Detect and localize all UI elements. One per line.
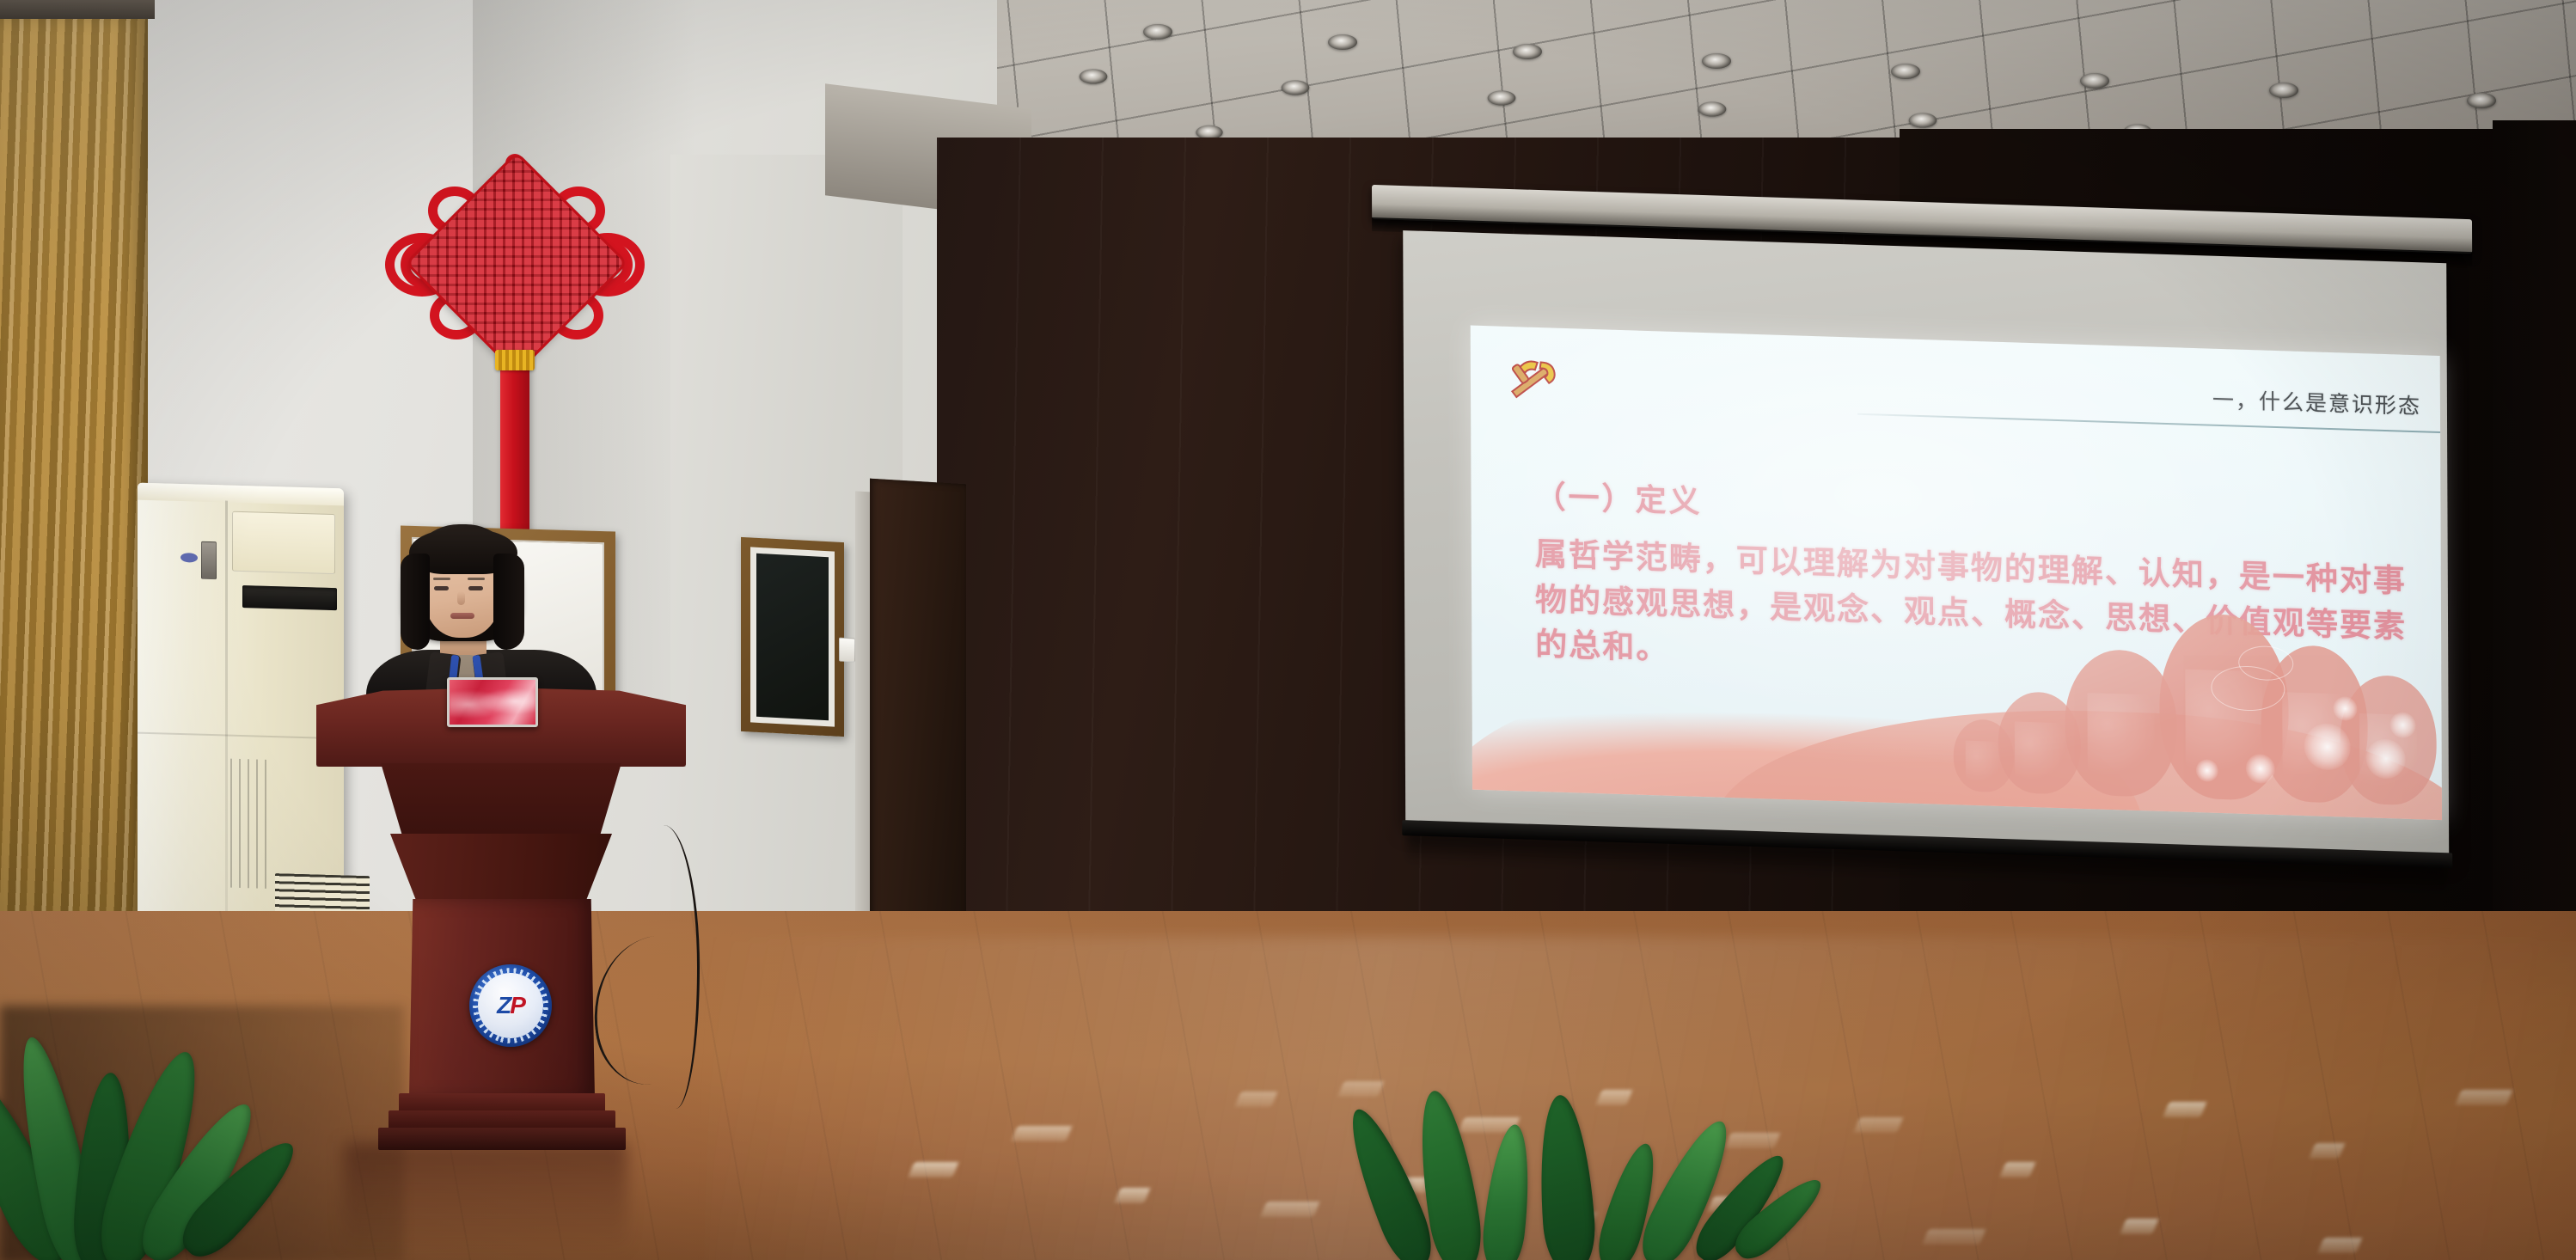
floor-light-reflection xyxy=(2120,1219,2158,1234)
speaker-brow-right xyxy=(468,578,485,580)
podium-column-neck xyxy=(390,834,612,902)
ceiling-downlight-icon xyxy=(1702,53,1731,69)
institution-emblem: ZP xyxy=(469,964,552,1047)
ceiling-downlight-icon xyxy=(1513,44,1542,59)
ac-air-outlet xyxy=(242,585,337,610)
speaker-podium: ZP xyxy=(316,688,686,1152)
framed-window-right xyxy=(741,537,844,737)
podium-nameplate xyxy=(447,677,538,727)
slide-decor-blossom xyxy=(2390,712,2416,738)
floor-light-reflection xyxy=(2309,1143,2345,1159)
podium-floor-reflection xyxy=(344,1143,627,1255)
speaker-hair-side-left xyxy=(401,554,430,650)
slide-section-title: （一）定义 xyxy=(1534,472,1702,522)
slide-decor-blossom xyxy=(2246,754,2275,784)
projection-screen-assembly: 一，什么是意识形态 （一）定义 属哲学范畴，可以理解为对事物的理解、认知，是一种… xyxy=(1370,185,2525,1012)
ac-seam xyxy=(225,500,228,964)
hammer-and-sickle-emblem-icon xyxy=(1500,349,1563,404)
emblem-monogram-accent: P xyxy=(510,992,524,1018)
slide-decor-blossom xyxy=(2304,723,2351,771)
speaker-brow-left xyxy=(433,578,450,580)
floor-light-reflection xyxy=(1922,1229,1986,1245)
ceiling-downlight-icon xyxy=(1282,80,1310,95)
floor-light-reflection xyxy=(1011,1126,1072,1141)
floor-light-reflection xyxy=(2455,1090,2513,1105)
ceiling-downlight-icon xyxy=(1328,34,1357,50)
ac-brand-logo-icon xyxy=(181,553,198,563)
ac-control-panel[interactable] xyxy=(232,511,335,574)
ceiling-downlight-icon xyxy=(1143,24,1172,40)
knot-woven-center xyxy=(408,155,625,371)
ceiling-downlight-icon xyxy=(1909,113,1937,127)
podium-shelf xyxy=(364,763,638,837)
speaker-hair-side-right xyxy=(493,554,524,650)
plant-leaf xyxy=(1479,1122,1536,1260)
ceiling-downlight-icon xyxy=(2467,93,2496,108)
light-switch[interactable] xyxy=(839,638,855,663)
plant-right xyxy=(1358,1074,1839,1260)
plant-left xyxy=(0,1014,335,1260)
slide-decor-blossom xyxy=(2366,738,2406,779)
ceiling-downlight-icon xyxy=(1891,64,1920,79)
floor-light-reflection xyxy=(1260,1202,1319,1217)
emblem-monogram: ZP xyxy=(497,992,524,1019)
floor-light-reflection xyxy=(1234,1092,1277,1107)
frame-b-glass xyxy=(756,554,829,720)
slide-header-title: 一，什么是意识形态 xyxy=(1923,374,2421,420)
ac-divider-line xyxy=(138,732,344,740)
floor-light-reflection xyxy=(1853,1117,1903,1133)
conference-room-scene: ZP xyxy=(0,0,2576,1260)
speaker-eye-left xyxy=(434,586,449,590)
plant-leaf xyxy=(1534,1093,1598,1260)
slide-decor-trees xyxy=(1471,326,2440,356)
floor-light-reflection xyxy=(908,1162,959,1177)
floor-light-reflection xyxy=(2317,1238,2362,1253)
podium-base-tier-2 xyxy=(389,1110,615,1129)
knot-gold-band xyxy=(495,350,535,370)
floor-light-reflection xyxy=(2163,1102,2207,1117)
ac-display-strip xyxy=(201,541,217,580)
frame-b-mat xyxy=(750,547,835,726)
speaker-eye-right xyxy=(468,586,483,590)
slide-decor-blossom xyxy=(2333,696,2357,721)
floor-light-reflection xyxy=(1999,1162,2035,1177)
podium-base-tier-1 xyxy=(399,1093,605,1112)
ac-side-grille xyxy=(230,759,266,889)
speaker-mouth xyxy=(450,613,474,619)
projected-slide: 一，什么是意识形态 （一）定义 属哲学范畴，可以理解为对事物的理解、认知，是一种… xyxy=(1471,326,2442,821)
projection-screen-surface: 一，什么是意识形态 （一）定义 属哲学范畴，可以理解为对事物的理解、认知，是一种… xyxy=(1403,230,2449,856)
curtain-rod xyxy=(0,0,155,19)
speaker-nose xyxy=(457,591,465,605)
ceiling-downlight-icon xyxy=(2080,73,2109,89)
ceiling-downlight-icon xyxy=(1698,101,1727,116)
podium-base-tier-3 xyxy=(378,1128,626,1150)
ceiling-downlight-icon xyxy=(2269,83,2298,98)
chinese-knot-decoration xyxy=(387,150,645,580)
slide-decor-blossom xyxy=(2196,759,2218,782)
